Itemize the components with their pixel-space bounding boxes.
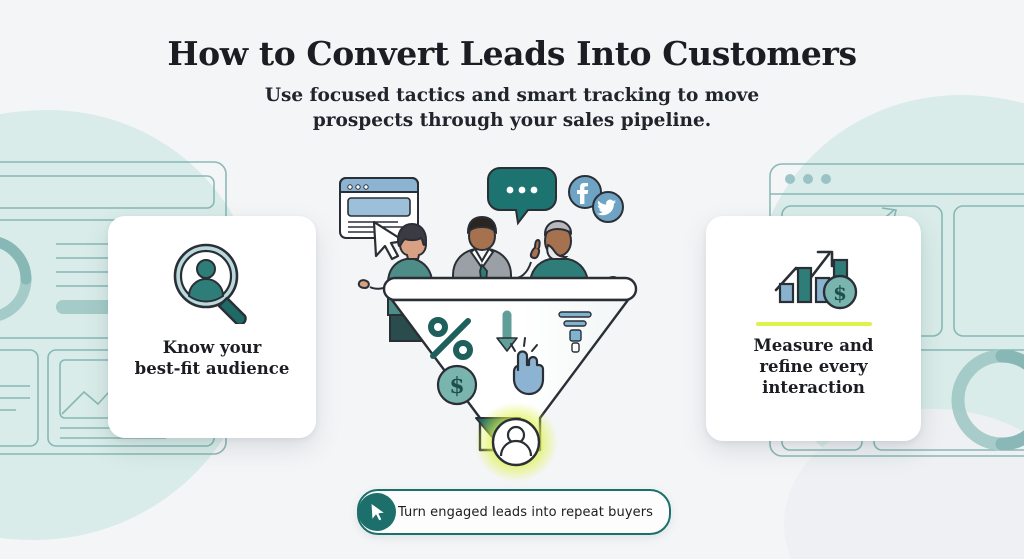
card-measure-refine[interactable]: $ Measure and refine every interaction — [706, 216, 921, 441]
svg-text:$: $ — [833, 281, 847, 305]
subtitle-line-1: Use focused tactics and smart tracking t… — [265, 85, 759, 106]
card-measure-refine-line-3: interaction — [762, 378, 865, 397]
infographic-canvas: How to Convert Leads Into Customers Use … — [0, 0, 1024, 559]
speech-bubble-icon — [488, 168, 556, 223]
card-know-audience-text: Know your best-fit audience — [127, 338, 298, 380]
funnel-top-bar — [384, 278, 636, 300]
card-measure-refine-text: Measure and refine every interaction — [746, 336, 882, 398]
card-know-audience-line-1: Know your — [163, 338, 262, 357]
card-divider-rule — [756, 322, 872, 326]
card-know-audience[interactable]: Know your best-fit audience — [108, 216, 316, 438]
badge-cursor-circle — [358, 493, 396, 531]
card-measure-refine-line-2: refine every — [759, 357, 867, 376]
twitter-icon — [593, 192, 623, 222]
cursor-arrow-icon — [369, 502, 386, 522]
subtitle-line-2: prospects through your sales pipeline. — [313, 110, 711, 131]
page-title: How to Convert Leads Into Customers — [0, 36, 1024, 72]
magnifier-person-icon — [166, 238, 258, 324]
header: How to Convert Leads Into Customers Use … — [0, 36, 1024, 134]
badge-label: Turn engaged leads into repeat buyers — [396, 505, 669, 520]
customer-avatar-icon — [493, 419, 539, 465]
page-subtitle: Use focused tactics and smart tracking t… — [252, 84, 772, 134]
card-know-audience-line-2: best-fit audience — [135, 359, 290, 378]
svg-text:$: $ — [449, 373, 464, 399]
bar-chart-growth-icon: $ — [768, 234, 860, 312]
customer-avatar-container — [468, 398, 564, 482]
cta-badge[interactable]: Turn engaged leads into repeat buyers — [357, 489, 671, 535]
card-measure-refine-line-1: Measure and — [754, 336, 874, 355]
